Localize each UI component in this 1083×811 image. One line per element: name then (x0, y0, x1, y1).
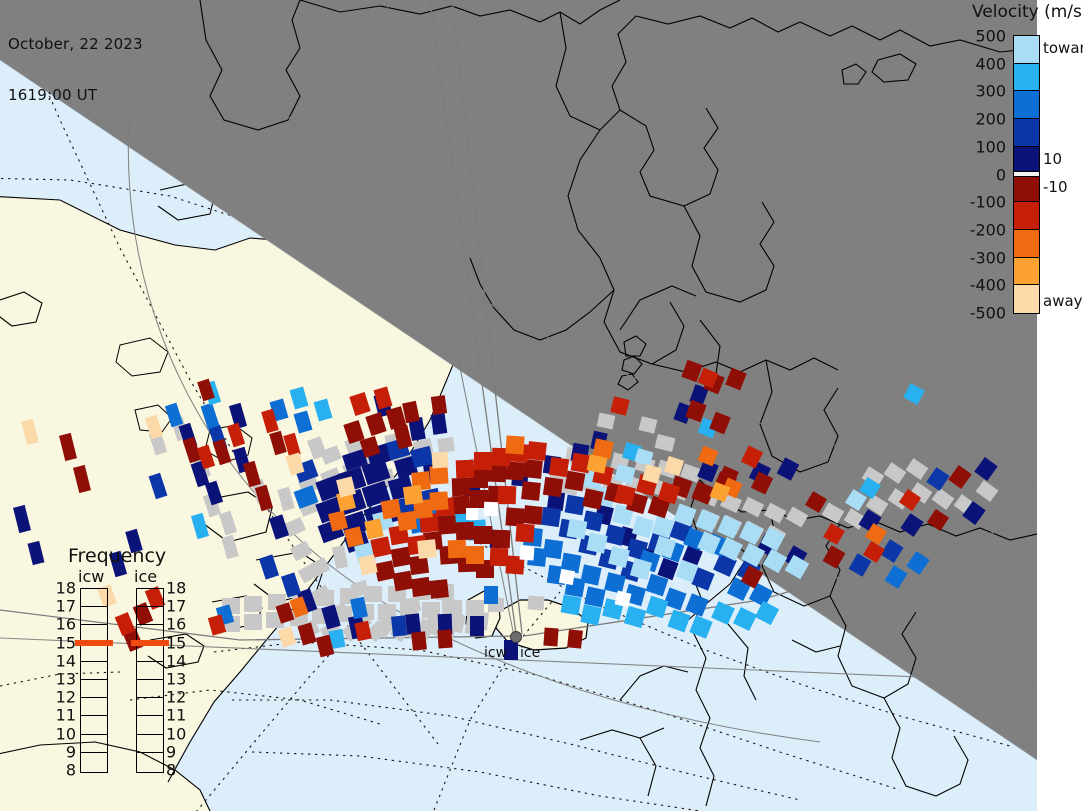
map-canvas[interactable]: October, 22 2023 1619:00 UT icw ice Freq… (0, 0, 1037, 811)
frequency-segment-icw-13 (81, 680, 107, 698)
site-label-ice: ice (520, 645, 540, 661)
frequency-segment-ice-18 (137, 589, 163, 607)
frequency-segment-ice-15 (137, 644, 163, 662)
frequency-segment-icw-9 (81, 753, 107, 771)
velocity-band--400-to--500 (1014, 285, 1039, 313)
frequency-segment-ice-14 (137, 662, 163, 680)
frequency-segment-ice-10 (137, 735, 163, 753)
frequency-segment-icw-17 (81, 607, 107, 625)
velocity-tick-0: 0 (996, 165, 1006, 184)
velocity-band-100-to-10 (1014, 147, 1039, 172)
timestamp-block: October, 22 2023 1619:00 UT (8, 2, 143, 138)
velocity-tick--100: -100 (970, 193, 1006, 212)
frequency-tick-icw-11: 11 (56, 706, 76, 725)
frequency-tick-icw-9: 9 (66, 742, 76, 761)
date-text: October, 22 2023 (8, 36, 143, 53)
velocity-tick-100: 100 (975, 137, 1006, 156)
velocity-band--300-to--400 (1014, 258, 1039, 286)
radar-site-marker[interactable] (511, 632, 522, 643)
velocity-tick-200: 200 (975, 110, 1006, 129)
frequency-tick-icw-12: 12 (56, 688, 76, 707)
frequency-segment-icw-11 (81, 716, 107, 734)
frequency-tick-icw-17: 17 (56, 597, 76, 616)
frequency-tick-ice-17: 17 (166, 597, 186, 616)
frequency-tick-ice-14: 14 (166, 651, 186, 670)
radar-map-page: October, 22 2023 1619:00 UT icw ice Freq… (0, 0, 1083, 811)
frequency-tick-icw-14: 14 (56, 651, 76, 670)
velocity-label-minus10: -10 (1043, 178, 1068, 196)
velocity-tick-labels: 5004003002001000-100-200-300-400-500 (960, 35, 1010, 315)
velocity-label-plus10: 10 (1043, 150, 1062, 168)
frequency-segment-icw-15 (81, 644, 107, 662)
frequency-tick-ice-8: 8 (166, 761, 176, 780)
frequency-segment-icw-14 (81, 662, 107, 680)
velocity-band--200-to--300 (1014, 230, 1039, 258)
frequency-tick-icw-18: 18 (56, 579, 76, 598)
frequency-tick-ice-13: 13 (166, 670, 186, 689)
velocity-tick--200: -200 (970, 220, 1006, 239)
frequency-marker-ice (131, 640, 169, 646)
velocity-tick-300: 300 (975, 82, 1006, 101)
frequency-bar-ice[interactable] (136, 588, 164, 773)
frequency-ticks-ice: 18171615141312111098 (166, 588, 188, 773)
velocity-band-300-to-200 (1014, 91, 1039, 119)
velocity-side-labels: toward10-10away (1043, 35, 1083, 315)
velocity-legend-title: Velocity (m/s) (972, 2, 1083, 22)
velocity-band-500-to-400 (1014, 36, 1039, 64)
frequency-tick-ice-9: 9 (166, 742, 176, 761)
velocity-band--10-to--100 (1014, 177, 1039, 202)
velocity-band-400-to-300 (1014, 64, 1039, 92)
velocity-tick-400: 400 (975, 54, 1006, 73)
frequency-segment-ice-13 (137, 680, 163, 698)
frequency-tick-ice-16: 16 (166, 615, 186, 634)
frequency-tick-icw-8: 8 (66, 761, 76, 780)
frequency-tick-icw-10: 10 (56, 724, 76, 743)
velocity-tick-500: 500 (975, 27, 1006, 46)
velocity-tick--500: -500 (970, 304, 1006, 323)
frequency-segment-ice-9 (137, 753, 163, 771)
velocity-legend: Velocity (m/s) 5004003002001000-100-200-… (960, 0, 1083, 330)
frequency-tick-icw-13: 13 (56, 670, 76, 689)
frequency-column-label-icw: icw (78, 567, 104, 586)
velocity-band-200-to-100 (1014, 119, 1039, 147)
frequency-tick-icw-15: 15 (56, 633, 76, 652)
frequency-segment-ice-11 (137, 716, 163, 734)
frequency-tick-ice-12: 12 (166, 688, 186, 707)
frequency-tick-ice-11: 11 (166, 706, 186, 725)
frequency-segment-icw-12 (81, 698, 107, 716)
frequency-tick-ice-18: 18 (166, 579, 186, 598)
velocity-label-away: away (1043, 292, 1083, 310)
frequency-tick-icw-16: 16 (56, 615, 76, 634)
frequency-legend: Frequency icw ice 18171615141312111098 1… (58, 545, 198, 785)
frequency-column-label-ice: ice (134, 567, 157, 586)
frequency-marker-icw (75, 640, 113, 646)
velocity-tick--300: -300 (970, 248, 1006, 267)
frequency-segment-icw-18 (81, 589, 107, 607)
velocity-tick--400: -400 (970, 276, 1006, 295)
frequency-tick-ice-10: 10 (166, 724, 186, 743)
frequency-tick-ice-15: 15 (166, 633, 186, 652)
frequency-segment-ice-12 (137, 698, 163, 716)
frequency-legend-title: Frequency (68, 545, 166, 567)
frequency-segment-ice-17 (137, 607, 163, 625)
site-label-icw: icw (484, 645, 507, 661)
time-text: 1619:00 UT (8, 87, 143, 104)
frequency-segment-icw-10 (81, 735, 107, 753)
frequency-ticks-icw: 18171615141312111098 (54, 588, 76, 773)
frequency-bar-icw[interactable] (80, 588, 108, 773)
velocity-colorbar[interactable] (1013, 35, 1040, 314)
velocity-label-toward: toward (1043, 39, 1083, 57)
velocity-band--100-to--200 (1014, 202, 1039, 230)
